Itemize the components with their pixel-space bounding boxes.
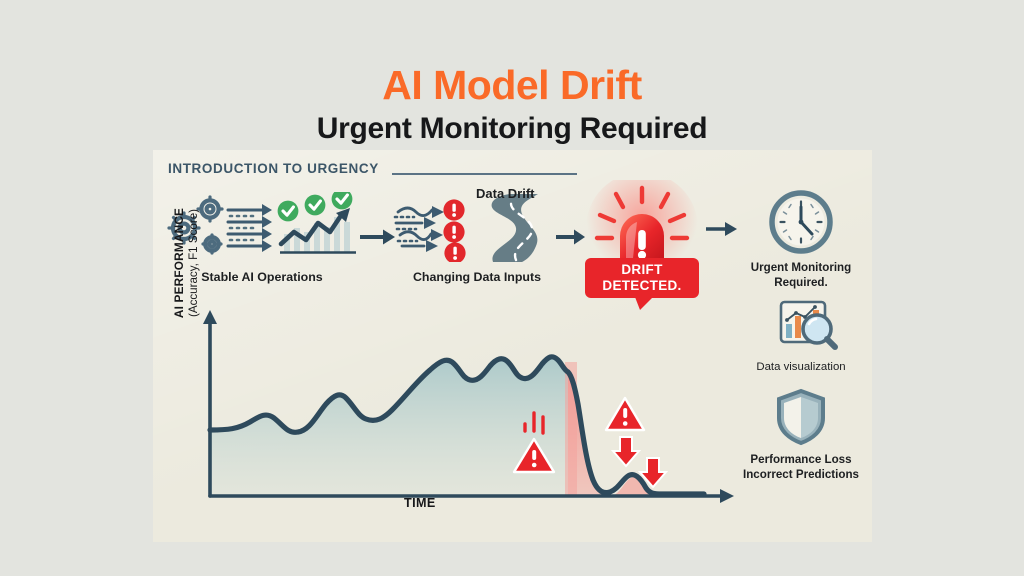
infographic-canvas: AI Model Drift Urgent Monitoring Require… bbox=[0, 0, 1024, 576]
data-drift-label: Data Drift bbox=[476, 186, 535, 201]
right-item-monitoring: Urgent Monitoring Required. bbox=[735, 190, 867, 290]
connector-arrow-1 bbox=[360, 228, 396, 246]
alert-circle-icon bbox=[443, 199, 465, 262]
flow-step-changing-caption: Changing Data Inputs bbox=[392, 270, 562, 285]
banner-line-1: DRIFT bbox=[578, 262, 706, 278]
bar-chart-magnifier-icon bbox=[735, 298, 867, 354]
chart-x-axis-label: TIME bbox=[404, 496, 436, 510]
warning-triangle-icon-right bbox=[606, 398, 644, 430]
right-item-dataviz: Data visualization bbox=[735, 298, 867, 375]
banner-line-2: DETECTED. bbox=[578, 278, 706, 294]
down-arrow-icon-1 bbox=[613, 437, 639, 466]
page-title: AI Model Drift bbox=[0, 62, 1024, 109]
chart-y-axis-label-main: AI PERFORMANCE bbox=[172, 208, 186, 318]
section-label: INTRODUCTION TO URGENCY bbox=[168, 161, 379, 176]
chart-y-axis-label: AI PERFORMANCE (Accuracy, F1 Score) bbox=[172, 188, 202, 338]
right-item-loss-caption-1: Performance Loss bbox=[735, 452, 867, 467]
right-item-loss-caption-2: Incorrect Predictions bbox=[735, 467, 867, 482]
right-item-monitoring-caption-1: Urgent Monitoring bbox=[735, 260, 867, 275]
connector-arrow-3 bbox=[706, 220, 738, 238]
page-subtitle: Urgent Monitoring Required bbox=[0, 112, 1024, 146]
right-item-loss: Performance Loss Incorrect Predictions bbox=[735, 388, 867, 482]
clock-icon bbox=[735, 190, 867, 254]
scattered-arrows-alerts-road-icon: Data Drift bbox=[392, 192, 562, 258]
performance-chart: AI PERFORMANCE (Accuracy, F1 Score) bbox=[168, 300, 738, 515]
section-divider bbox=[392, 173, 577, 175]
flow-step-alarm: DRIFT DETECTED. bbox=[578, 180, 706, 310]
shield-icon bbox=[735, 388, 867, 446]
chart-plot bbox=[168, 300, 738, 515]
right-item-monitoring-caption-2: Required. bbox=[735, 275, 867, 290]
chart-y-axis-label-sub: (Accuracy, F1 Score) bbox=[187, 209, 200, 317]
right-item-dataviz-caption: Data visualization bbox=[735, 360, 867, 375]
flow-step-changing: Data Drift bbox=[392, 192, 562, 285]
